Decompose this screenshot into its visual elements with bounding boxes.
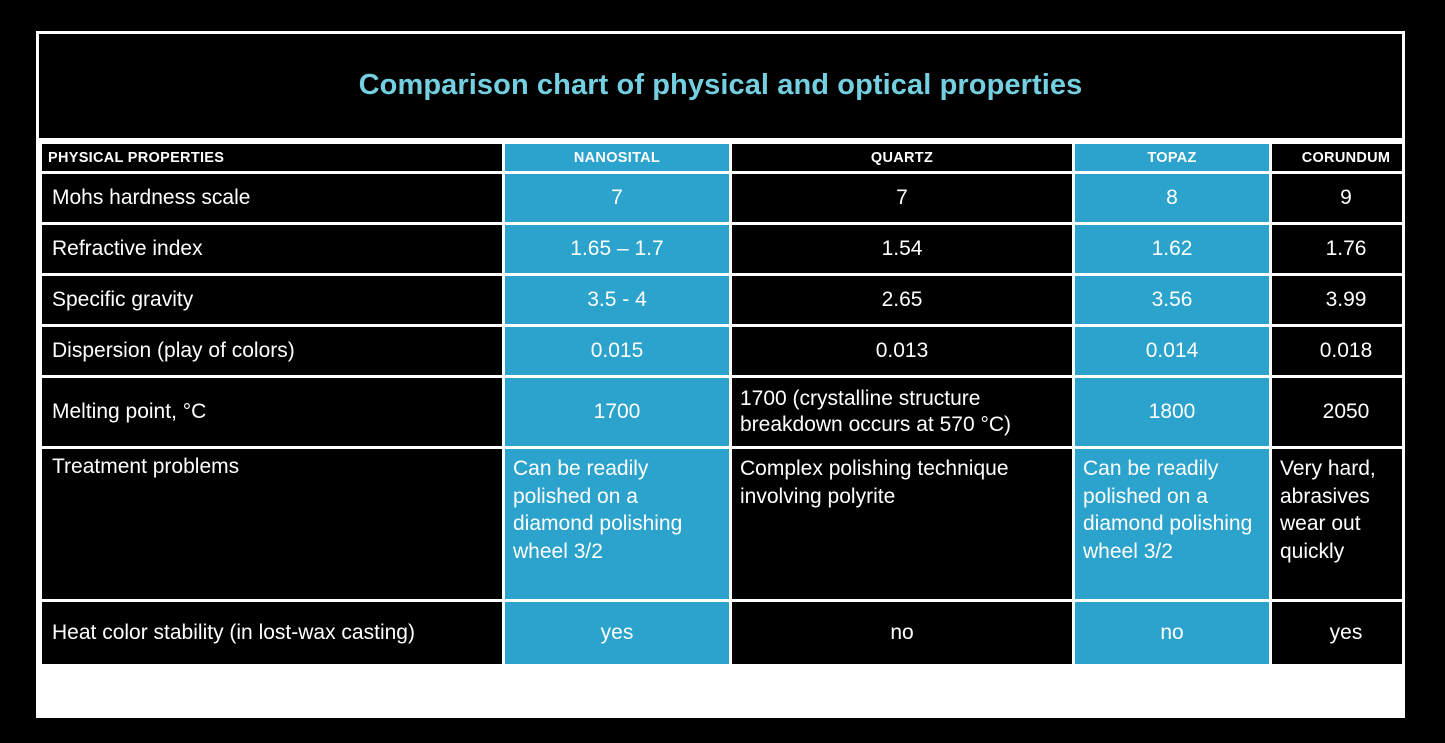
row-label-specific-gravity: Specific gravity (42, 276, 502, 324)
cell-quartz-heat: no (732, 602, 1072, 664)
cell-topaz-heat: no (1075, 602, 1269, 664)
column-header-quartz: QUARTZ (732, 144, 1072, 171)
column-header-physical-properties: PHYSICAL PROPERTIES (42, 144, 502, 171)
comparison-table: PHYSICAL PROPERTIES NANOSITAL QUARTZ TOP… (39, 141, 1402, 667)
table-row: Dispersion (play of colors) 0.015 0.013 … (42, 327, 1402, 375)
cell-quartz-dispersion: 0.013 (732, 327, 1072, 375)
table-row: Mohs hardness scale 7 7 8 9 (42, 174, 1402, 222)
row-label-mohs-hardness-scale: Mohs hardness scale (42, 174, 502, 222)
cell-topaz-refractive: 1.62 (1075, 225, 1269, 273)
cell-quartz-mohs: 7 (732, 174, 1072, 222)
cell-nanosital-refractive: 1.65 – 1.7 (505, 225, 729, 273)
table-row: Heat color stability (in lost-wax castin… (42, 602, 1402, 664)
row-label-treatment-problems: Treatment problems (42, 449, 502, 599)
cell-nanosital-treatment: Can be readily polished on a diamond pol… (505, 449, 729, 599)
cell-quartz-refractive: 1.54 (732, 225, 1072, 273)
cell-nanosital-heat: yes (505, 602, 729, 664)
cell-quartz-melting: 1700 (crystalline structure breakdown oc… (732, 378, 1072, 446)
cell-corundum-mohs: 9 (1272, 174, 1402, 222)
table-row: Refractive index 1.65 – 1.7 1.54 1.62 1.… (42, 225, 1402, 273)
row-label-heat-color-stability: Heat color stability (in lost-wax castin… (42, 602, 502, 664)
cell-quartz-treatment: Complex polishing technique involving po… (732, 449, 1072, 599)
page-title: Comparison chart of physical and optical… (359, 69, 1083, 102)
table-row: Melting point, °C 1700 1700 (crystalline… (42, 378, 1402, 446)
cell-corundum-dispersion: 0.018 (1272, 327, 1402, 375)
column-header-corundum: CORUNDUM (1272, 144, 1402, 171)
cell-corundum-refractive: 1.76 (1272, 225, 1402, 273)
table-row: Specific gravity 3.5 - 4 2.65 3.56 3.99 (42, 276, 1402, 324)
cell-topaz-treatment: Can be readily polished on a diamond pol… (1075, 449, 1269, 599)
table-row: Treatment problems Can be readily polish… (42, 449, 1402, 599)
chart-frame: Comparison chart of physical and optical… (36, 31, 1405, 718)
cell-topaz-gravity: 3.56 (1075, 276, 1269, 324)
table-body: Mohs hardness scale 7 7 8 9 Refractive i… (42, 174, 1402, 664)
cell-quartz-gravity: 2.65 (732, 276, 1072, 324)
cell-nanosital-mohs: 7 (505, 174, 729, 222)
row-label-refractive-index: Refractive index (42, 225, 502, 273)
cell-nanosital-dispersion: 0.015 (505, 327, 729, 375)
comparison-chart-page: Comparison chart of physical and optical… (0, 0, 1445, 743)
cell-topaz-mohs: 8 (1075, 174, 1269, 222)
cell-corundum-melting: 2050 (1272, 378, 1402, 446)
row-label-dispersion: Dispersion (play of colors) (42, 327, 502, 375)
column-header-topaz: TOPAZ (1075, 144, 1269, 171)
cell-nanosital-gravity: 3.5 - 4 (505, 276, 729, 324)
cell-corundum-gravity: 3.99 (1272, 276, 1402, 324)
cell-topaz-dispersion: 0.014 (1075, 327, 1269, 375)
cell-corundum-heat: yes (1272, 602, 1402, 664)
row-label-melting-point: Melting point, °C (42, 378, 502, 446)
column-header-nanosital: NANOSITAL (505, 144, 729, 171)
cell-topaz-melting: 1800 (1075, 378, 1269, 446)
cell-nanosital-melting: 1700 (505, 378, 729, 446)
table-header-row: PHYSICAL PROPERTIES NANOSITAL QUARTZ TOP… (42, 144, 1402, 171)
title-band: Comparison chart of physical and optical… (39, 34, 1402, 141)
comparison-table-container: PHYSICAL PROPERTIES NANOSITAL QUARTZ TOP… (39, 141, 1402, 715)
cell-corundum-treatment: Very hard, abrasives wear out quickly (1272, 449, 1402, 599)
